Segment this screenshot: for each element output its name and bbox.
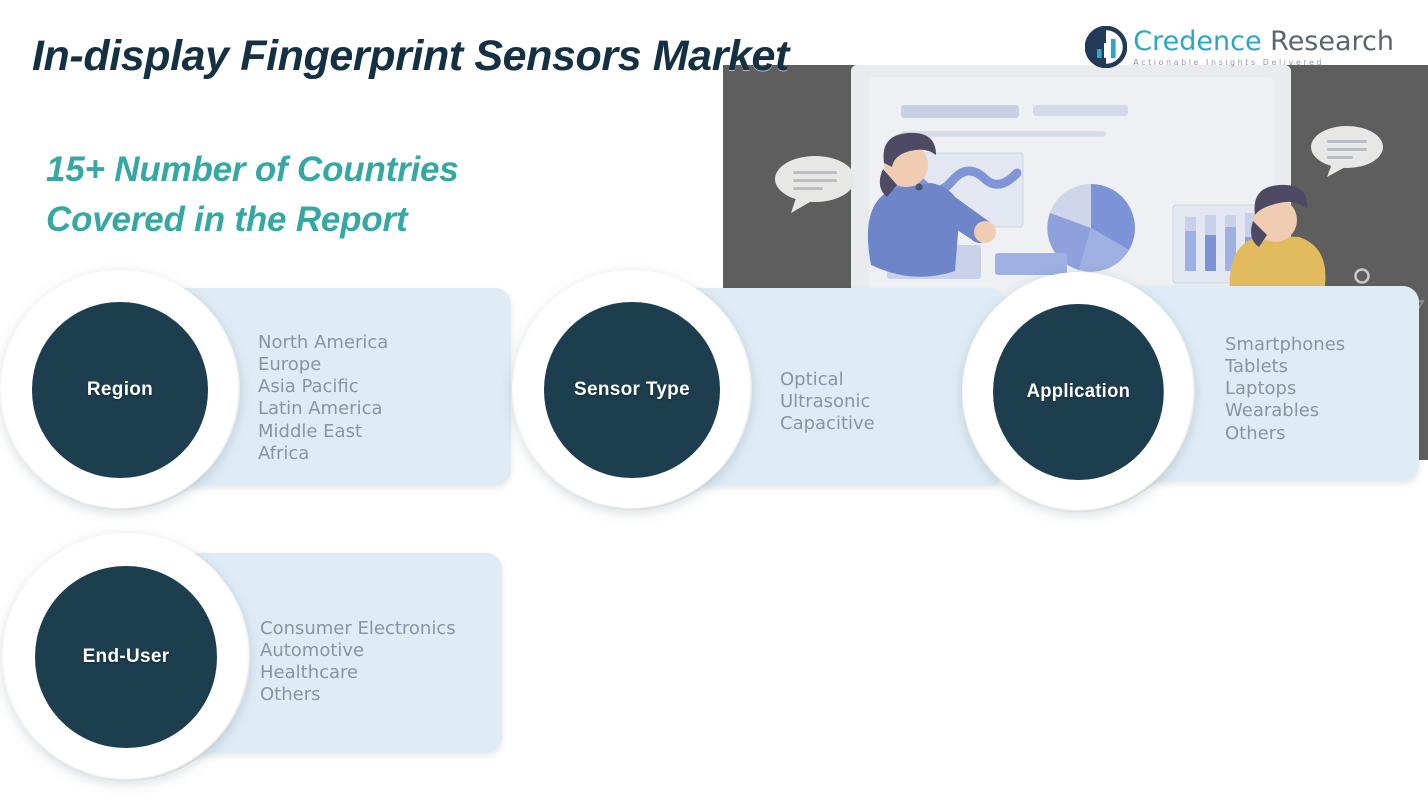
segment-circle-fill-sensor-type: Sensor Type bbox=[544, 302, 719, 477]
segment-circle-fill-application: Application bbox=[993, 304, 1163, 479]
list-item: Consumer Electronics bbox=[260, 618, 456, 640]
subtitle-line-2: Covered in the Report bbox=[46, 195, 459, 245]
list-item: Healthcare bbox=[260, 662, 456, 684]
segment-label-region: Region bbox=[87, 379, 153, 401]
segment-list-sensor-type: Optical Ultrasonic Capacitive bbox=[780, 369, 875, 435]
page-title: In-display Fingerprint Sensors Market bbox=[32, 32, 789, 81]
logo-word-credence: Credence bbox=[1133, 26, 1261, 57]
subtitle-line-1: 15+ Number of Countries bbox=[46, 145, 459, 195]
list-item: Smartphones bbox=[1225, 334, 1345, 356]
list-item: Others bbox=[1225, 423, 1345, 445]
list-item: Wearables bbox=[1225, 400, 1345, 422]
segment-label-application: Application bbox=[1027, 381, 1131, 403]
segment-card-region[interactable]: North America Europe Asia Pacific Latin … bbox=[0, 270, 520, 500]
logo-text-block: Credence Research Actionable Insights De… bbox=[1133, 28, 1394, 67]
list-item: Optical bbox=[780, 369, 875, 391]
segment-card-sensor-type[interactable]: Optical Ultrasonic Capacitive Sensor Typ… bbox=[512, 270, 1022, 500]
segment-list-end-user: Consumer Electronics Automotive Healthca… bbox=[260, 618, 456, 707]
infographic-slide: In-display Fingerprint Sensors Market 15… bbox=[0, 0, 1428, 804]
segment-circle-sensor-type[interactable]: Sensor Type bbox=[512, 270, 752, 510]
list-item: Middle East bbox=[258, 421, 388, 443]
segment-label-sensor-type: Sensor Type bbox=[574, 379, 690, 401]
segment-circle-fill-region: Region bbox=[32, 302, 207, 477]
list-item: Others bbox=[260, 684, 456, 706]
logo-wordmark: Credence Research bbox=[1133, 28, 1394, 56]
segment-circle-application[interactable]: Application bbox=[962, 272, 1195, 512]
credence-research-logo[interactable]: Credence Research Actionable Insights De… bbox=[1085, 26, 1394, 68]
list-item: Ultrasonic bbox=[780, 391, 875, 413]
segment-circle-end-user[interactable]: End-User bbox=[2, 533, 250, 781]
segment-circle-fill-end-user: End-User bbox=[35, 566, 216, 747]
list-item: Tablets bbox=[1225, 356, 1345, 378]
list-item: Latin America bbox=[258, 398, 388, 420]
list-item: North America bbox=[258, 332, 388, 354]
segment-label-end-user: End-User bbox=[83, 646, 170, 668]
logo-word-research: Research bbox=[1262, 26, 1394, 57]
segment-list-region: North America Europe Asia Pacific Latin … bbox=[258, 332, 388, 465]
list-item: Automotive bbox=[260, 640, 456, 662]
segment-list-application: Smartphones Tablets Laptops Wearables Ot… bbox=[1225, 334, 1345, 445]
list-item: Asia Pacific bbox=[258, 376, 388, 398]
report-coverage-subtitle: 15+ Number of Countries Covered in the R… bbox=[46, 145, 459, 244]
segment-card-end-user[interactable]: Consumer Electronics Automotive Healthca… bbox=[0, 533, 520, 773]
list-item: Laptops bbox=[1225, 378, 1345, 400]
list-item: Europe bbox=[258, 354, 388, 376]
segment-circle-region[interactable]: Region bbox=[0, 270, 240, 510]
list-item: Africa bbox=[258, 443, 388, 465]
list-item: Capacitive bbox=[780, 413, 875, 435]
logo-tagline: Actionable Insights Delivered bbox=[1133, 58, 1394, 67]
bar-chart-circle-logo-icon bbox=[1085, 26, 1127, 68]
segment-card-application[interactable]: Smartphones Tablets Laptops Wearables Ot… bbox=[962, 272, 1428, 502]
